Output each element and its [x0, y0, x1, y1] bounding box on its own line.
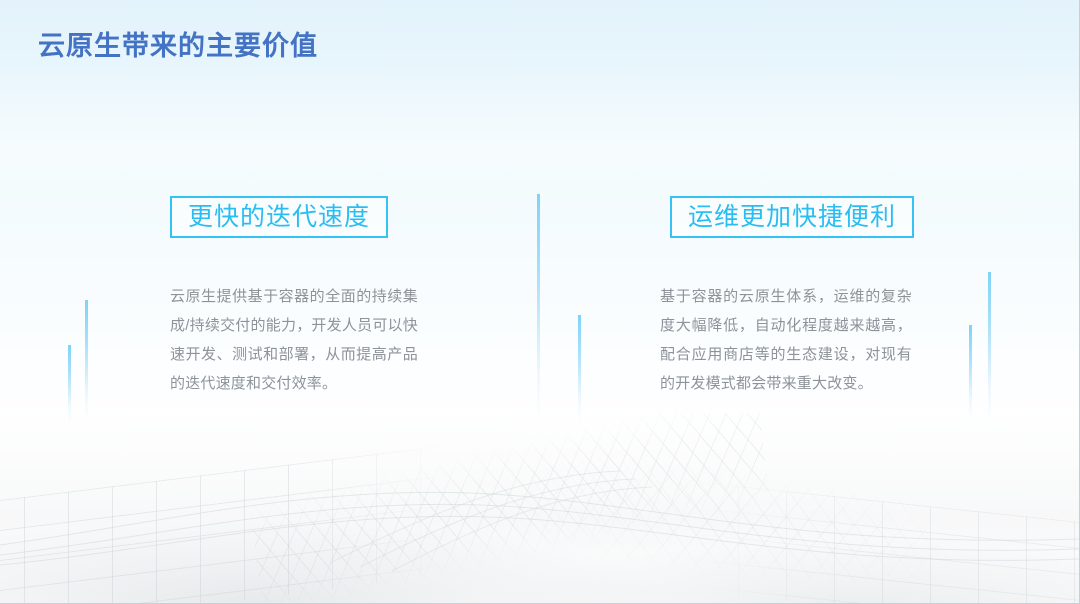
background-landscape-artwork — [0, 413, 1080, 603]
value-card-1-heading: 更快的迭代速度 — [170, 196, 388, 238]
value-card-2-body: 基于容器的云原生体系，运维的复杂度大幅降低，自动化程度越来越高，配合应用商店等的… — [660, 282, 912, 398]
landscape-contour-lines — [0, 453, 1080, 573]
accent-line-3 — [537, 194, 540, 424]
value-card-1: 更快的迭代速度 云原生提供基于容器的全面的持续集成/持续交付的能力，开发人员可以… — [170, 196, 418, 398]
accent-line-2 — [85, 300, 88, 422]
accent-line-1 — [68, 345, 71, 423]
landscape-lattice-right — [521, 442, 940, 603]
landscape-lattice-left — [249, 413, 770, 603]
accent-line-6 — [988, 272, 991, 422]
value-card-2: 运维更加快捷便利 基于容器的云原生体系，运维的复杂度大幅降低，自动化程度越来越高… — [670, 196, 914, 398]
landscape-blocks-left — [0, 444, 460, 603]
page-title: 云原生带来的主要价值 — [38, 24, 318, 63]
slide-canvas: 云原生带来的主要价值 更快的迭代速度 云原生提供基于容器的全面的持续集成/持续交… — [0, 0, 1080, 604]
accent-line-5 — [969, 325, 972, 421]
landscape-blocks-right — [690, 481, 1080, 603]
value-card-1-body: 云原生提供基于容器的全面的持续集成/持续交付的能力，开发人员可以快速开发、测试和… — [170, 282, 418, 398]
accent-line-4 — [578, 315, 581, 423]
value-card-2-heading: 运维更加快捷便利 — [670, 196, 914, 238]
landscape-haze — [0, 413, 1080, 603]
